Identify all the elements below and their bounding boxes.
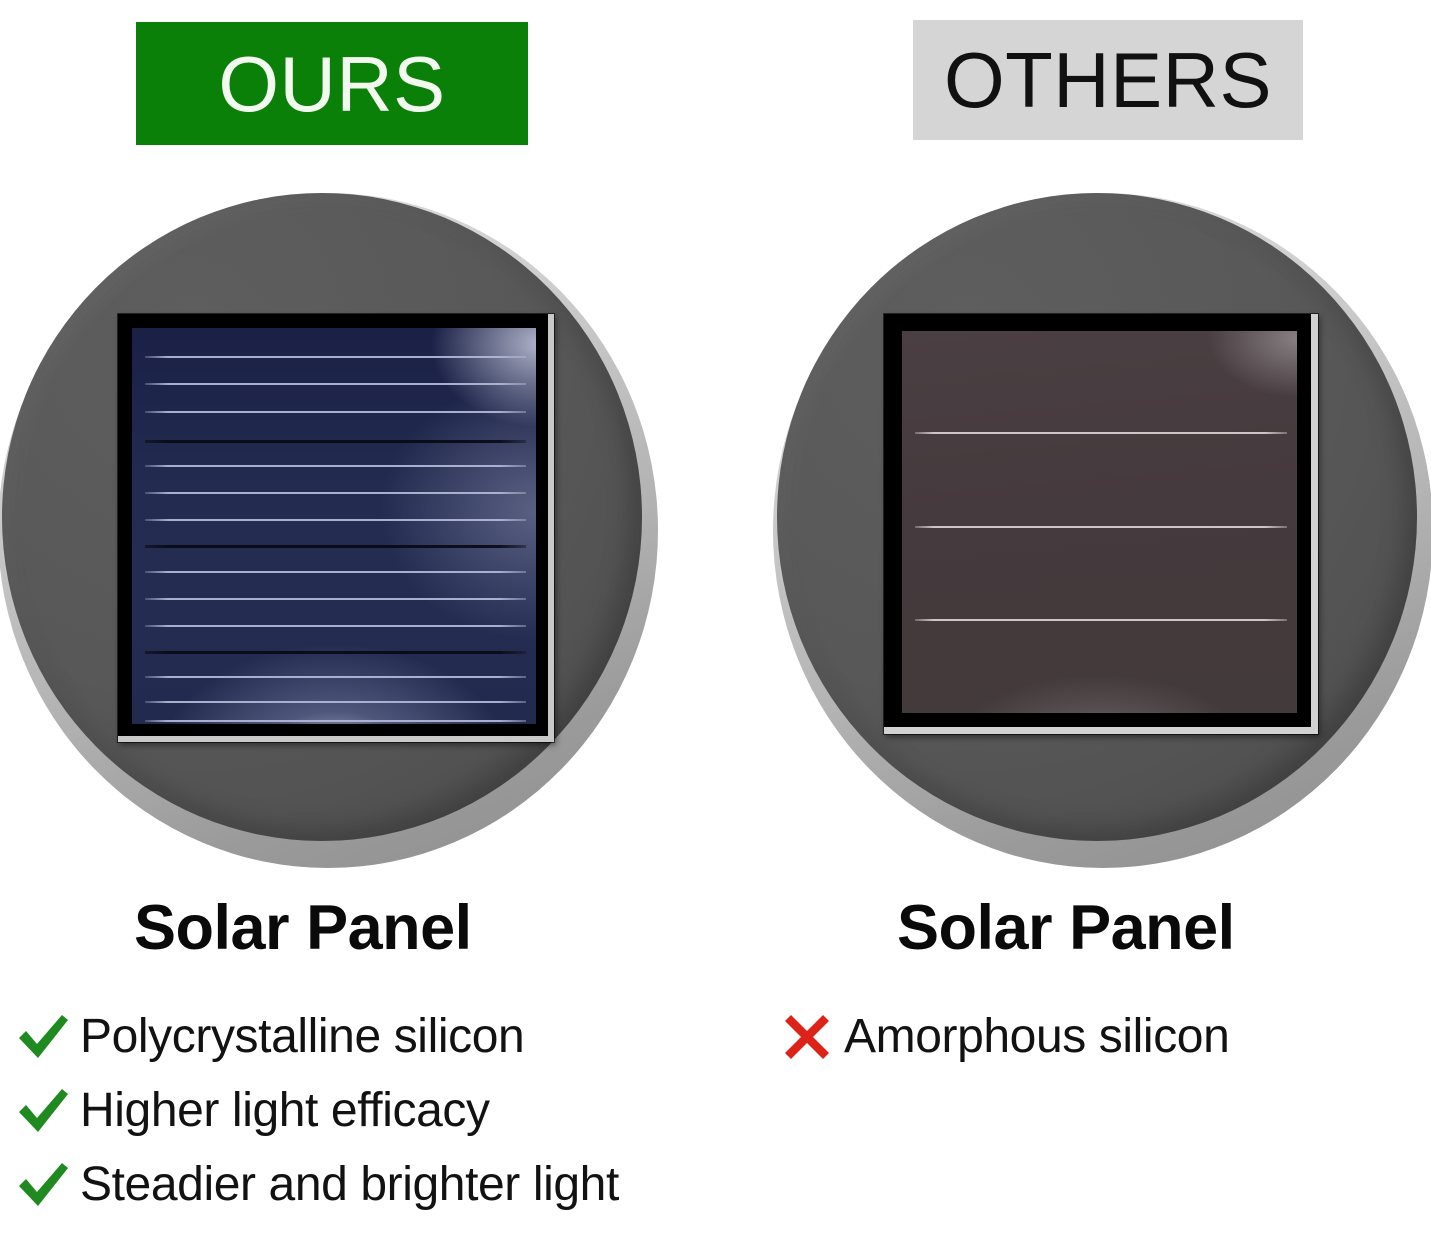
badge-ours: OURS (136, 22, 528, 145)
feature-label: Higher light efficacy (80, 1087, 490, 1135)
feature-item: Steadier and brighter light (14, 1148, 619, 1222)
solar-panel-others (884, 314, 1318, 734)
badge-ours-label: OURS (218, 45, 445, 123)
check-icon (14, 1156, 72, 1214)
polycrystalline-cell (132, 328, 536, 724)
feature-item: Polycrystalline silicon (14, 1000, 619, 1074)
feature-list-others: Amorphous silicon (778, 1000, 1229, 1074)
badge-others-label: OTHERS (944, 41, 1272, 119)
feature-label: Steadier and brighter light (80, 1161, 619, 1209)
feature-item: Higher light efficacy (14, 1074, 619, 1148)
product-caption-others: Solar Panel (897, 897, 1235, 960)
amorphous-cell (902, 331, 1297, 713)
feature-label: Amorphous silicon (844, 1013, 1229, 1061)
feature-item: Amorphous silicon (778, 1000, 1229, 1074)
cross-icon (778, 1008, 836, 1066)
check-icon (14, 1008, 72, 1066)
badge-others: OTHERS (913, 20, 1303, 140)
check-icon (14, 1082, 72, 1140)
solar-panel-ours (118, 314, 554, 742)
product-caption-ours: Solar Panel (134, 897, 472, 960)
feature-list-ours: Polycrystalline silicon Higher light eff… (14, 1000, 619, 1222)
comparison-infographic: OURS OTHERS (0, 0, 1431, 1238)
feature-label: Polycrystalline silicon (80, 1013, 524, 1061)
